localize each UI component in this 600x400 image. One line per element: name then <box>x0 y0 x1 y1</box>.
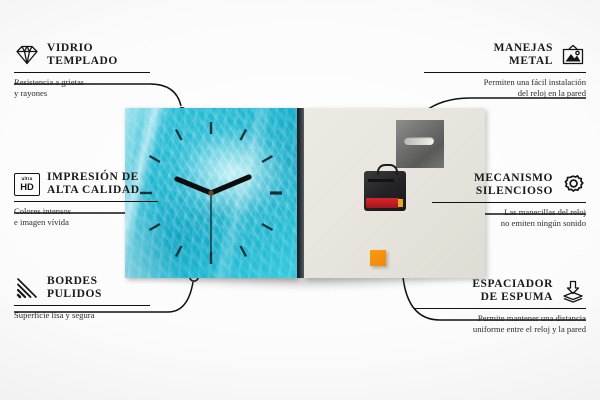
feature-desc-line2: y rayones <box>14 88 154 99</box>
feature-title-line2: ALTA CALIDAD <box>47 184 140 197</box>
feature-desc-line1: Superficie lisa y segura <box>14 310 154 321</box>
foam-spacer <box>370 250 386 266</box>
feature-rule <box>14 305 150 306</box>
feature-rule <box>432 202 586 203</box>
hanger-plate <box>396 120 444 168</box>
feature-desc-line1: Permite mantener una distancia <box>410 313 586 324</box>
feature-title-line1: VIDRIO <box>47 42 118 55</box>
polished-edges-icon <box>14 276 40 300</box>
feature-desc-line1: Las manecillas del reloj <box>428 207 586 218</box>
feature-desc-line2: no emiten ningún sonido <box>428 218 586 229</box>
feature-mecanismo-silencioso[interactable]: MECANISMO SILENCIOSO Las manecillas del … <box>428 172 586 229</box>
feature-title-line2: PULIDOS <box>47 288 102 301</box>
feature-rule <box>424 72 586 73</box>
ultra-hd-icon: ultra HD <box>14 173 40 196</box>
clock-mechanism <box>364 171 406 211</box>
mechanism-hook <box>377 164 398 175</box>
feature-desc-line1: Colores intensos <box>14 206 162 217</box>
feature-title-line2: DE ESPUMA <box>472 291 553 304</box>
feature-impresion-alta-calidad[interactable]: ultra HD IMPRESIÓN DE ALTA CALIDAD Color… <box>14 171 162 228</box>
feature-rule <box>14 72 150 73</box>
feature-title-line1: ESPACIADOR <box>472 278 553 291</box>
feature-title-line2: TEMPLADO <box>47 55 118 68</box>
feature-rule <box>14 201 158 202</box>
arrow-down-layers-icon <box>560 279 586 303</box>
picture-frame-hanger-icon <box>560 43 586 67</box>
feature-rule <box>414 308 586 309</box>
feature-desc-line1: Permiten una fácil instalación <box>420 77 586 88</box>
feature-title-line1: IMPRESIÓN DE <box>47 171 140 184</box>
feature-desc-line1: Resistencia a grietas <box>14 77 154 88</box>
feature-title-line1: MECANISMO <box>474 172 553 185</box>
hour-hand <box>211 177 249 193</box>
feature-desc-line2: del reloj en la pared <box>420 88 586 99</box>
ultra-hd-main-text: HD <box>20 182 34 191</box>
feature-bordes-pulidos[interactable]: BORDES PULIDOS Superficie lisa y segura <box>14 275 154 321</box>
feature-title-line2: METAL <box>494 55 553 68</box>
clock-center-cap <box>208 190 213 195</box>
diamond-icon <box>14 43 40 67</box>
hanger-slot <box>404 137 434 145</box>
feature-title-line2: SILENCIOSO <box>474 185 553 198</box>
feature-desc-line2: e imagen vívida <box>14 217 162 228</box>
minute-hand <box>177 179 211 193</box>
feature-desc-line2: uniforme entre el reloj y la pared <box>410 324 586 335</box>
product-infographic: VIDRIO TEMPLADO Resistencia a grietas y … <box>0 0 600 400</box>
gear-icon <box>560 173 586 197</box>
glass-side-edge <box>297 108 304 278</box>
mechanism-detail <box>368 179 394 182</box>
battery <box>366 198 399 208</box>
feature-manejas-metal[interactable]: MANEJAS METAL Permiten una fácil instala… <box>420 42 586 99</box>
feature-espaciador-de-espuma[interactable]: ESPACIADOR DE ESPUMA Permite mantener un… <box>410 278 586 335</box>
feature-title-line1: BORDES <box>47 275 102 288</box>
feature-vidrio-templado[interactable]: VIDRIO TEMPLADO Resistencia a grietas y … <box>14 42 154 99</box>
feature-title-line1: MANEJAS <box>494 42 553 55</box>
